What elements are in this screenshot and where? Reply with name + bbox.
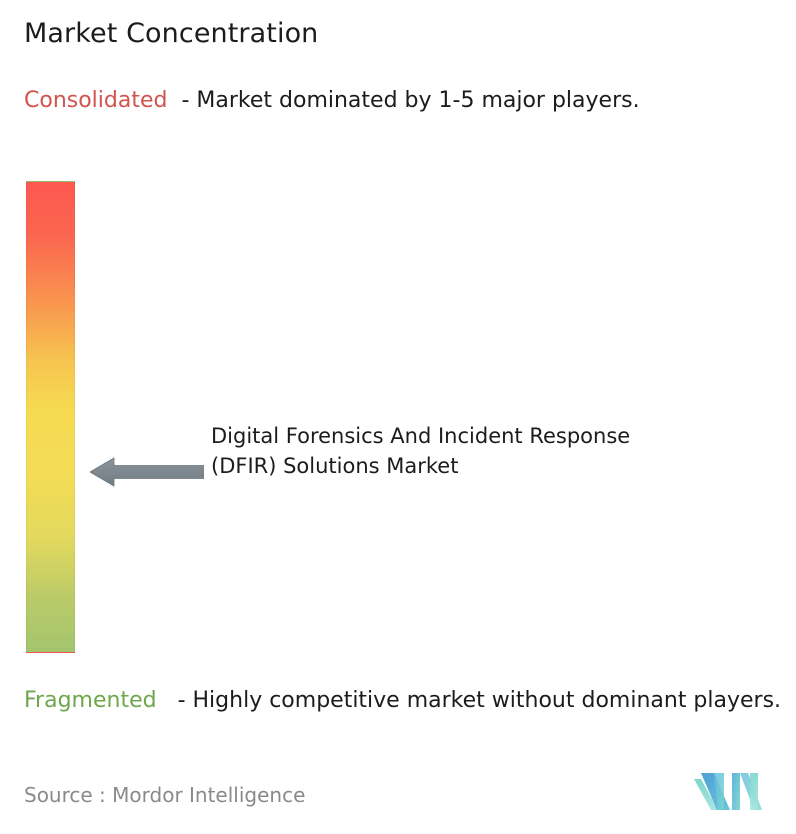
consolidated-description: Market dominated by 1-5 major players. — [196, 88, 639, 113]
consolidated-keyword: Consolidated — [24, 88, 167, 113]
market-concentration-scale-bar — [26, 181, 75, 653]
fragmented-keyword: Fragmented — [24, 688, 157, 713]
consolidated-separator: - — [167, 88, 196, 113]
market-concentration-figure: Market Concentration Consolidated - Mark… — [0, 0, 796, 834]
fragmented-description: Highly competitive market without domina… — [193, 688, 782, 713]
fragmented-separator: - — [157, 688, 193, 713]
left-arrow-icon — [90, 452, 204, 492]
market-position-arrow — [90, 452, 204, 492]
mordor-intelligence-logo — [692, 770, 764, 812]
source-attribution: Source : Mordor Intelligence — [24, 783, 305, 807]
consolidated-caption: Consolidated - Market dominated by 1-5 m… — [24, 85, 764, 116]
fragmented-caption: Fragmented - Highly competitive market w… — [24, 685, 792, 716]
mordor-intelligence-logo-icon — [692, 770, 764, 812]
page-title: Market Concentration — [24, 19, 318, 49]
market-name-label: Digital Forensics And Incident Response … — [211, 422, 631, 482]
